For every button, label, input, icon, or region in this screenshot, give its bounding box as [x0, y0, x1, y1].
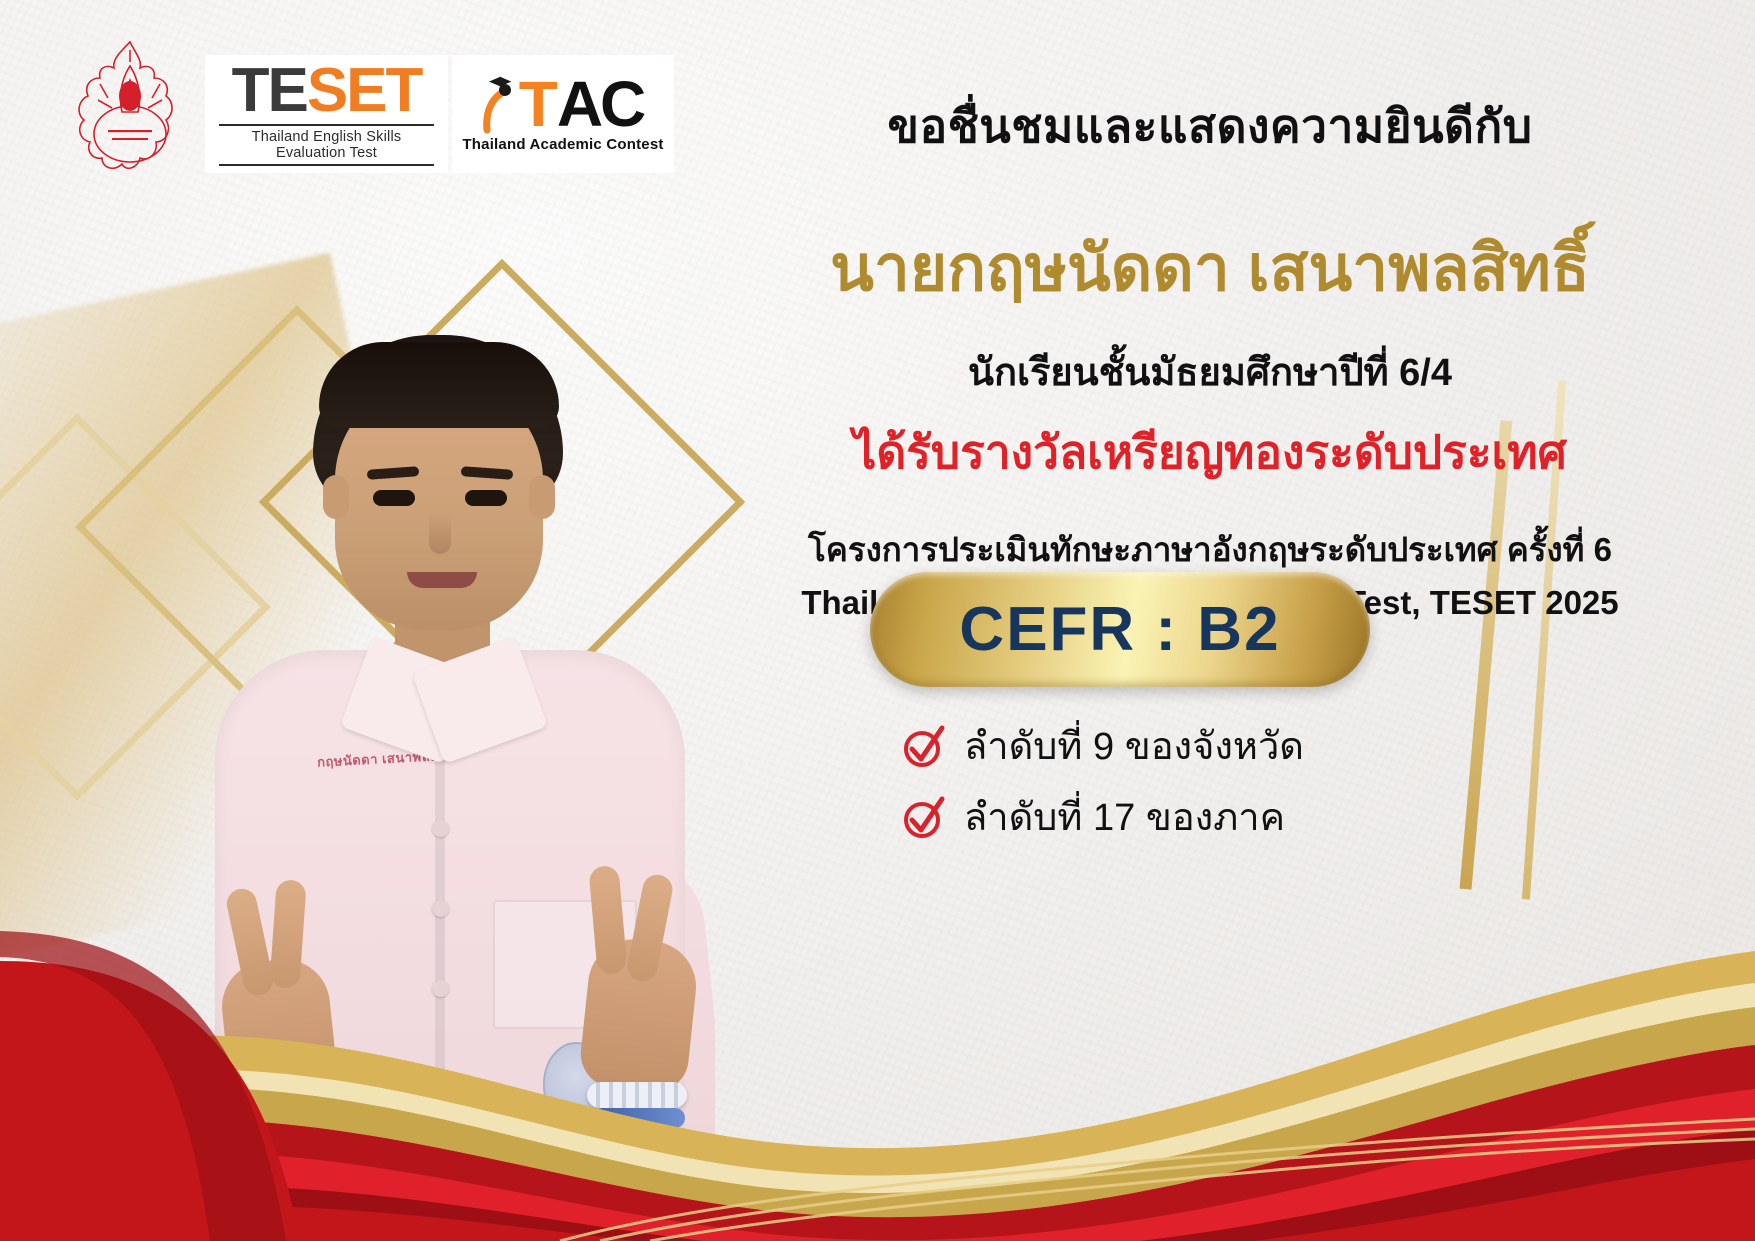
- ranking-item-province: ลำดับที่ 9 ของจังหวัด: [900, 715, 1380, 776]
- cefr-badge: CEFR : B2: [870, 572, 1370, 687]
- photo-nose: [429, 512, 451, 554]
- school-emblem-icon: [78, 38, 183, 183]
- photo-bracelet-beads: [587, 1082, 687, 1108]
- tac-tagline: Thailand Academic Contest: [462, 136, 663, 153]
- teset-tagline: Thailand English Skills Evaluation Test: [219, 129, 434, 161]
- tac-wordmark: TAC: [483, 76, 644, 134]
- teset-word-set: SET: [307, 56, 422, 125]
- photo-bracelet-band: [593, 1108, 685, 1128]
- teset-word-te: TE: [232, 56, 307, 125]
- cefr-badge-label: CEFR : B2: [959, 594, 1280, 665]
- ranking-label-province: ลำดับที่ 9 ของจังหวัด: [964, 715, 1304, 776]
- graduate-figure-icon: [483, 76, 517, 134]
- photo-eye-right: [465, 490, 507, 506]
- photo-shirt-button: [432, 980, 449, 997]
- photo-shirt-placket: [435, 720, 445, 1150]
- photo-shirt-button: [432, 820, 449, 837]
- student-name: นายกฤษนัดดา เสนาพลสิทธิ์: [700, 217, 1720, 319]
- project-name-thai: โครงการประเมินทักษะภาษาอังกฤษระดับประเทศ…: [700, 523, 1720, 576]
- student-class: นักเรียนชั้นมัธยมศึกษาปีที่ 6/4: [700, 341, 1720, 402]
- tac-logo: TAC Thailand Academic Contest: [452, 55, 674, 173]
- congratulation-line: ขอชื่นชมและแสดงความยินดีกับ: [700, 90, 1720, 163]
- photo-hair-fringe: [319, 342, 559, 428]
- ranking-list: ลำดับที่ 9 ของจังหวัด ลำดับที่ 17 ของภาค: [900, 715, 1380, 857]
- award-poster: TESET Thailand English Skills Evaluation…: [0, 0, 1755, 1241]
- ranking-label-region: ลำดับที่ 17 ของภาค: [964, 786, 1285, 847]
- student-photo: กฤษนัดดา เสนาพลสิทธิ์: [95, 300, 715, 1241]
- photo-ear-left: [323, 475, 349, 519]
- tac-word-ac: AC: [557, 76, 643, 134]
- photo-eye-left: [373, 490, 415, 506]
- award-line: ได้รับรางวัลเหรียญทองระดับประเทศ: [700, 416, 1720, 489]
- check-circle-icon: [900, 794, 946, 840]
- teset-wordmark: TESET: [232, 62, 422, 121]
- teset-logo: TESET Thailand English Skills Evaluation…: [205, 55, 448, 173]
- teset-tagline-rule: Thailand English Skills Evaluation Test: [219, 124, 434, 166]
- photo-mouth: [407, 572, 477, 588]
- ranking-item-region: ลำดับที่ 17 ของภาค: [900, 786, 1380, 847]
- photo-shirt-button: [432, 900, 449, 917]
- tac-word-t: T: [519, 76, 555, 134]
- poster-text-column: ขอชื่นชมและแสดงความยินดีกับ นายกฤษนัดดา …: [700, 90, 1720, 622]
- check-circle-icon: [900, 723, 946, 769]
- photo-ear-right: [529, 475, 555, 519]
